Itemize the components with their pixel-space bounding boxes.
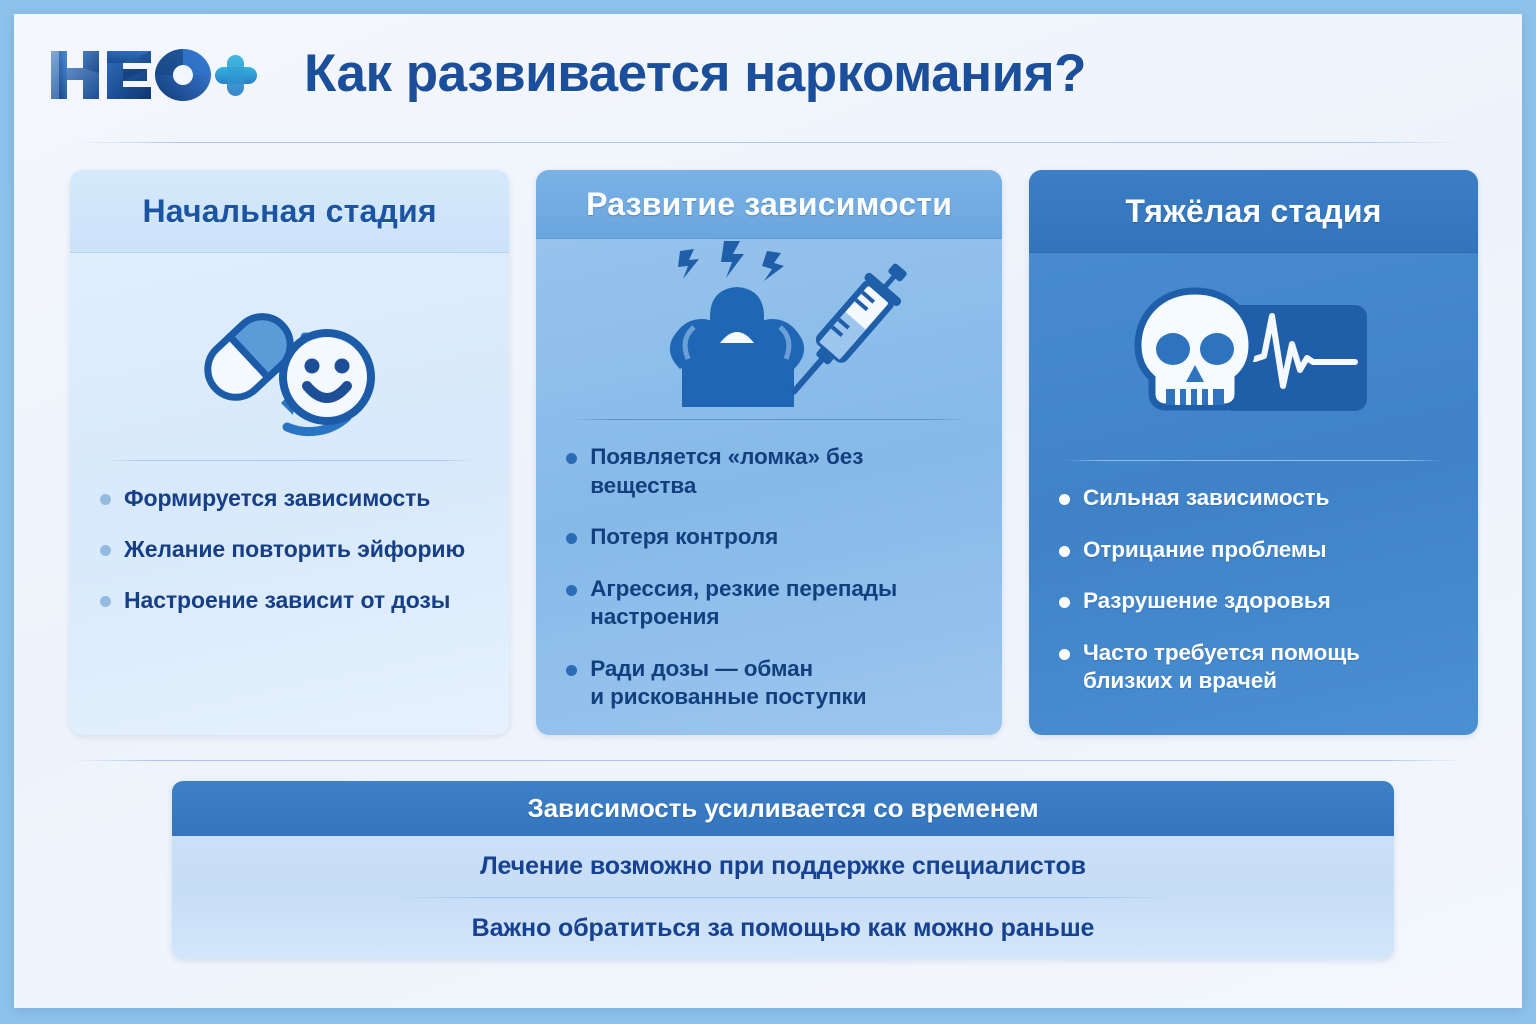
list-item: Отрицание проблемы: [1059, 536, 1450, 565]
bullet-dot-icon: [100, 494, 111, 505]
list-item: Появляется «ломка» без вещества: [566, 443, 974, 500]
card-severe-stage[interactable]: Тяжёлая стадия: [1029, 170, 1478, 735]
list-item: Настроение зависит от дозы: [100, 586, 481, 615]
card-dependence-development[interactable]: Развитие зависимости: [536, 170, 1002, 735]
card-title-dependence-development: Развитие зависимости: [536, 170, 1002, 239]
bullet-dot-icon: [566, 533, 577, 544]
summary-headline: Зависимость усиливается со временем: [172, 781, 1394, 836]
bullet-list-dependence-development: Появляется «ломка» без вещества Потеря к…: [536, 420, 1002, 735]
list-item: Формируется зависимость: [100, 484, 481, 513]
section-divider: [70, 760, 1466, 761]
bullet-dot-icon: [566, 665, 577, 676]
stage-cards: Начальная стадия: [70, 170, 1478, 735]
list-item: Сильная зависимость: [1059, 484, 1450, 513]
neo-plus-logo-icon: [47, 43, 259, 105]
card-initial-stage[interactable]: Начальная стадия: [70, 170, 509, 735]
list-item: Агрессия, резкие перепады настроения: [566, 575, 974, 632]
list-item: Желание повторить эйфорию: [100, 535, 481, 564]
list-item: Разрушение здоровья: [1059, 587, 1450, 616]
page-header: Как развивается наркомания?: [14, 14, 1522, 132]
card-title-severe-stage: Тяжёлая стадия: [1029, 170, 1478, 253]
card-icon-area-dependence-development: [536, 239, 1002, 419]
card-icon-area-severe-stage: [1029, 253, 1478, 460]
list-item: Часто требуется помощь близких и врачей: [1059, 639, 1450, 696]
bullet-list-initial-stage: Формируется зависимость Желание повторит…: [70, 461, 509, 735]
skull-ecg-icon: [1133, 277, 1373, 437]
card-icon-area-initial-stage: [70, 253, 509, 460]
summary-line-1: Лечение возможно при поддержке специалис…: [172, 836, 1394, 897]
bullet-dot-icon: [100, 596, 111, 607]
bullet-list-severe-stage: Сильная зависимость Отрицание проблемы Р…: [1029, 461, 1478, 735]
pill-smiley-cycle-icon: [167, 269, 412, 444]
list-item: Потеря контроля: [566, 523, 974, 552]
header-divider: [70, 142, 1466, 143]
infographic-page: Как развивается наркомания? Начальная ст…: [14, 14, 1522, 1008]
brand-logo: [47, 43, 259, 105]
list-item: Ради дозы — обман и рискованные поступки: [566, 655, 974, 712]
page-title: Как развивается наркомания?: [304, 43, 1086, 104]
bullet-dot-icon: [566, 585, 577, 596]
bullet-dot-icon: [100, 545, 111, 556]
bullet-dot-icon: [566, 453, 577, 464]
summary-panel: Зависимость усиливается со временем Лече…: [172, 781, 1394, 959]
stressed-head-syringe-icon: [624, 239, 914, 419]
bullet-dot-icon: [1059, 597, 1070, 608]
card-title-initial-stage: Начальная стадия: [70, 170, 509, 253]
bullet-dot-icon: [1059, 649, 1070, 660]
bullet-dot-icon: [1059, 494, 1070, 505]
bullet-dot-icon: [1059, 546, 1070, 557]
summary-line-2: Важно обратиться за помощью как можно ра…: [172, 898, 1394, 959]
